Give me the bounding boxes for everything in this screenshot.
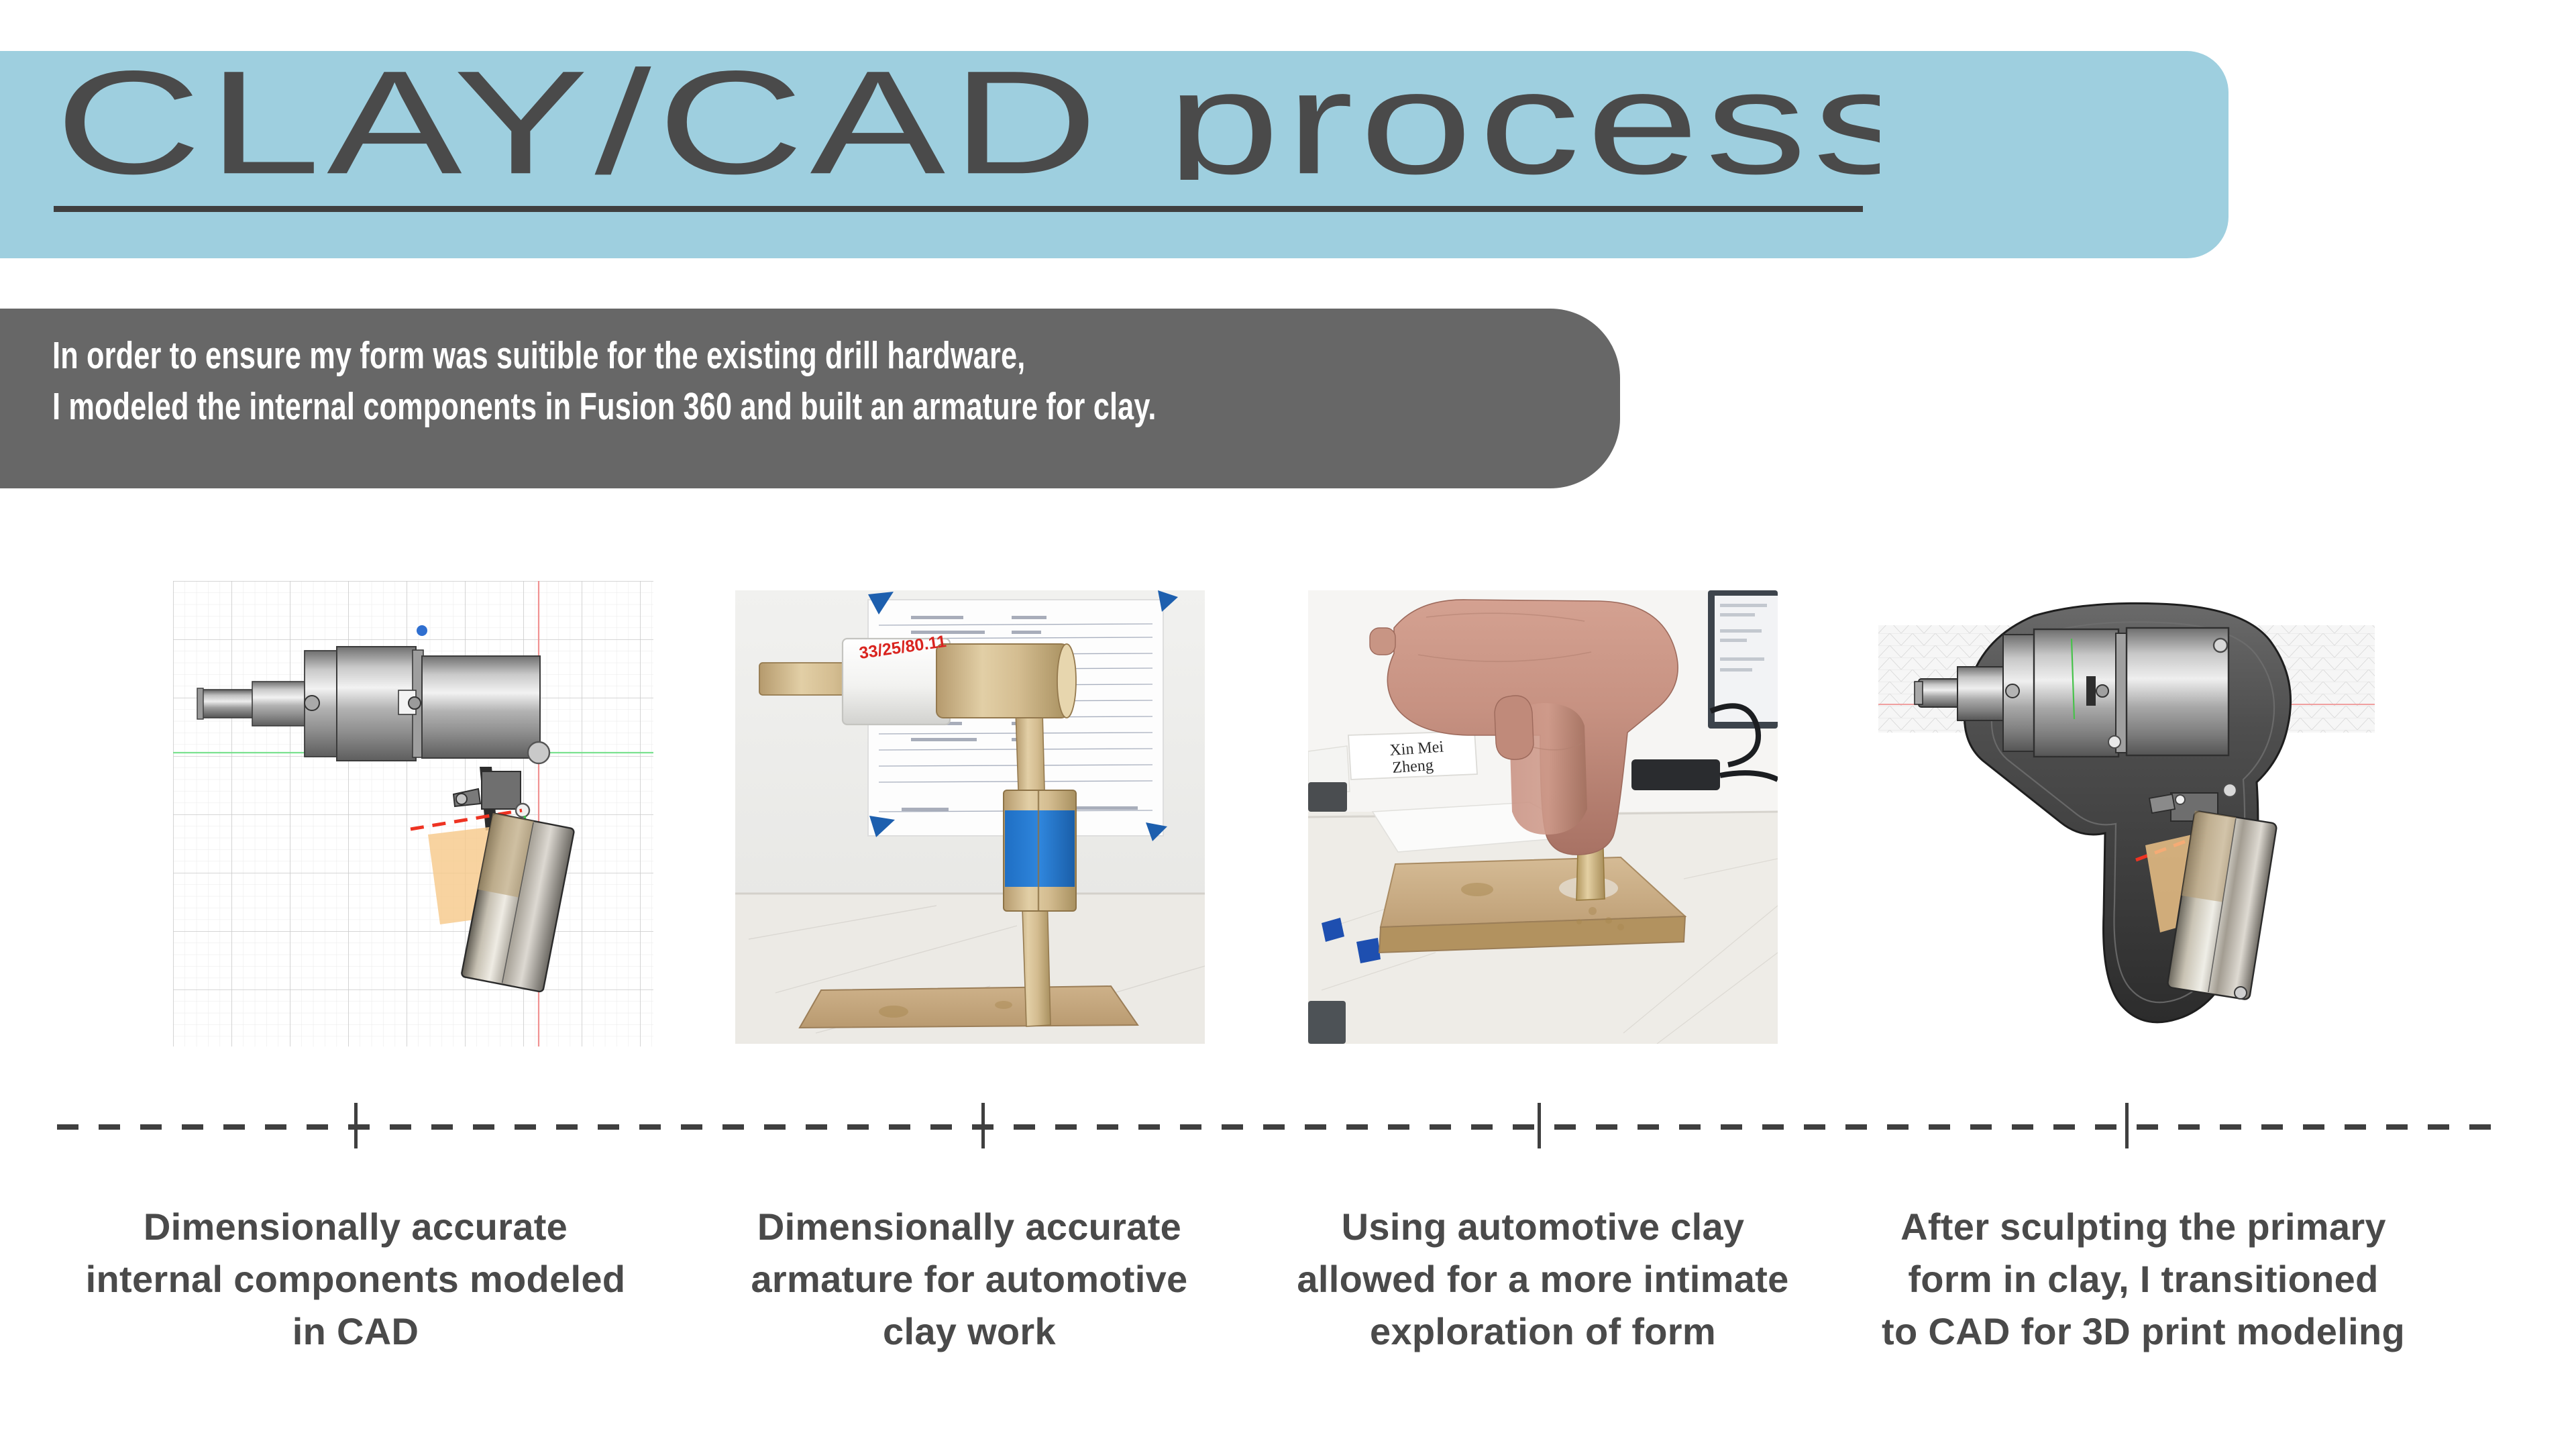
- title-underline: [54, 206, 1863, 212]
- caption-3-line-2: allowed for a more intimate: [1275, 1253, 1811, 1305]
- caption-4-line-2: form in clay, I transitioned: [1841, 1253, 2445, 1305]
- caption-1-line-2: internal components modeled: [60, 1253, 651, 1305]
- subtitle-line-1: In order to ensure my form was suitible …: [52, 330, 1199, 381]
- page-title-text: CLAY/CAD process: [55, 59, 1880, 180]
- caption-2-line-2: armature for automotive: [701, 1253, 1238, 1305]
- panel-cad-section-view[interactable]: [1878, 597, 2375, 1040]
- timeline-tick-1: [354, 1103, 358, 1148]
- caption-3-line-1: Using automotive clay: [1275, 1201, 1811, 1253]
- caption-clay-exploration: Using automotive clay allowed for a more…: [1275, 1201, 1811, 1358]
- caption-cad-internal-components: Dimensionally accurate internal componen…: [60, 1201, 651, 1358]
- timeline-tick-2: [981, 1103, 985, 1148]
- caption-armature: Dimensionally accurate armature for auto…: [701, 1201, 1238, 1358]
- caption-4-line-3: to CAD for 3D print modeling: [1841, 1305, 2445, 1358]
- caption-2-line-3: clay work: [701, 1305, 1238, 1358]
- caption-cad-transition: After sculpting the primary form in clay…: [1841, 1201, 2445, 1358]
- page-title: CLAY/CAD process: [55, 59, 1880, 180]
- name-card-text-line2: Zheng: [1392, 757, 1434, 777]
- panel-cad-internal-components[interactable]: [173, 581, 653, 1046]
- timeline-tick-4: [2125, 1103, 2129, 1148]
- timeline-dashed-line: [57, 1124, 2506, 1130]
- subtitle-line-2: I modeled the internal components in Fus…: [52, 381, 1199, 432]
- panel-clay-model-photo[interactable]: Xin Mei Zheng: [1308, 590, 1778, 1044]
- subtitle-text-block: In order to ensure my form was suitible …: [52, 330, 1199, 432]
- caption-3-line-3: exploration of form: [1275, 1305, 1811, 1358]
- timeline-tick-3: [1538, 1103, 1541, 1148]
- caption-2-line-1: Dimensionally accurate: [701, 1201, 1238, 1253]
- caption-4-line-1: After sculpting the primary: [1841, 1201, 2445, 1253]
- caption-1-line-3: in CAD: [60, 1305, 651, 1358]
- panel-armature-photo[interactable]: 33/25/80.11: [735, 590, 1205, 1044]
- caption-1-line-1: Dimensionally accurate: [60, 1201, 651, 1253]
